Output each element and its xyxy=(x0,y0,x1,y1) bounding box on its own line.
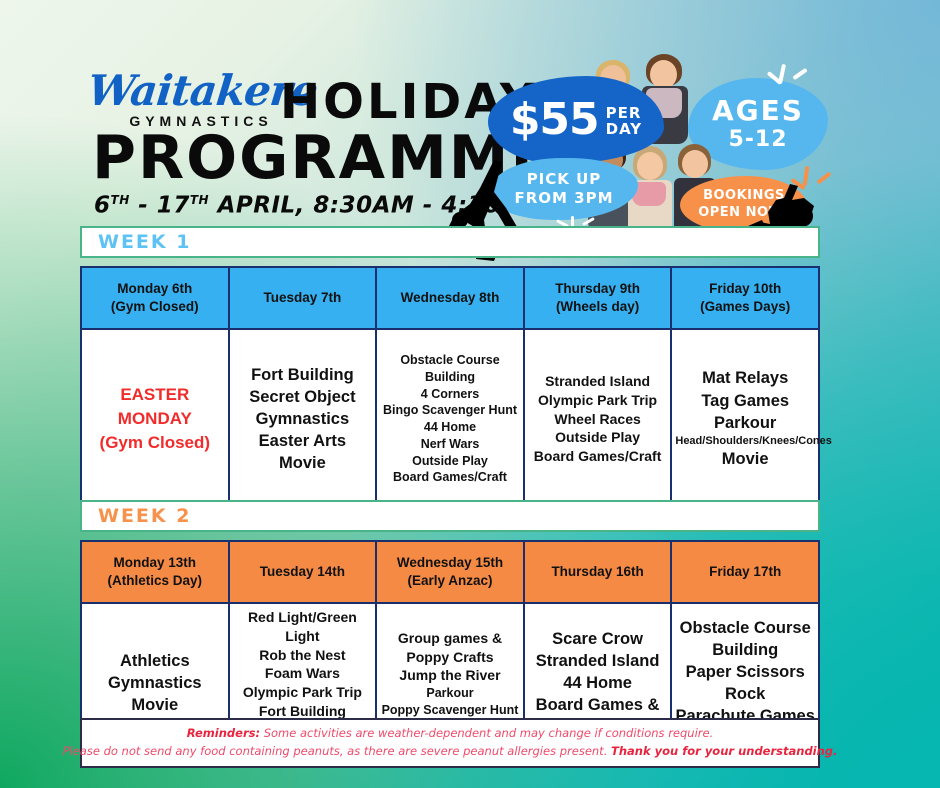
activity-item: EASTER xyxy=(85,383,225,407)
week1-cell-1: Fort BuildingSecret ObjectGymnasticsEast… xyxy=(229,329,377,509)
activity-item: Outside Play xyxy=(528,428,668,447)
price-day-label: DAY xyxy=(606,120,643,138)
activity-item: Board Games & xyxy=(528,694,668,716)
activity-item: 4 Corners xyxy=(380,386,520,403)
activity-item: Mat Relays xyxy=(675,367,815,389)
price-per-label: PER xyxy=(606,104,642,122)
week2-note-0: (Athletics Day) xyxy=(108,573,203,588)
waitakere-gymnastics-logo: Waitakere GYMNASTICS xyxy=(88,70,288,129)
activity-item: Fort Building xyxy=(233,364,373,386)
week1-activity-row: EASTERMONDAY(Gym Closed) Fort BuildingSe… xyxy=(81,329,819,509)
sparkle-white-icon xyxy=(760,58,810,92)
week2-col-header-2: Wednesday 15th (Early Anzac) xyxy=(376,541,524,603)
week1-cell-4: Mat RelaysTag GamesParkourHead/Shoulders… xyxy=(671,329,819,509)
dates-day-from: 6 xyxy=(94,193,111,219)
price-badge: $55 PER DAY xyxy=(488,76,664,164)
ages-range: 5-12 xyxy=(728,129,787,151)
reminders-label: Reminders: xyxy=(187,726,260,740)
week1-note-3: (Wheels day) xyxy=(556,299,639,314)
week1-col-header-2: Wednesday 8th xyxy=(376,267,524,329)
dates-sup-2: TH xyxy=(190,193,209,207)
holiday-programme-poster: Waitakere GYMNASTICS HOLIDAY PROGRAMME 6… xyxy=(0,0,940,788)
week1-col-header-0: Monday 6th (Gym Closed) xyxy=(81,267,229,329)
reminder-line-2: Please do not send any food containing p… xyxy=(63,743,838,761)
activity-item: Building xyxy=(380,369,520,386)
activity-item: Parkour xyxy=(675,412,815,434)
activity-item: Olympic Park Trip xyxy=(528,391,668,410)
week2-header-row: Monday 13th (Athletics Day) Tuesday 14th… xyxy=(81,541,819,603)
week1-cell-2: Obstacle CourseBuilding4 CornersBingo Sc… xyxy=(376,329,524,509)
activity-item: Paper Scissors Rock xyxy=(675,661,815,705)
activity-item: 44 Home xyxy=(380,419,520,436)
activity-item: Building xyxy=(675,639,815,661)
activity-item: MONDAY xyxy=(85,407,225,431)
week1-col-header-4: Friday 10th (Games Days) xyxy=(671,267,819,329)
reminder-line-1-text: Some activities are weather-dependent an… xyxy=(260,726,713,740)
reminder-line-1: Reminders: Some activities are weather-d… xyxy=(187,725,714,743)
week1-label: WEEK 1 xyxy=(82,231,191,253)
activity-item: Head/Shoulders/Knees/Cones xyxy=(675,434,815,449)
dates-separator: - 17 xyxy=(130,193,190,219)
week1-note-0: (Gym Closed) xyxy=(111,299,199,314)
week1-cell-0: EASTERMONDAY(Gym Closed) xyxy=(81,329,229,509)
logo-wordmark: Waitakere xyxy=(86,70,290,112)
activity-item: Tag Games xyxy=(675,390,815,412)
week2-col-header-0: Monday 13th (Athletics Day) xyxy=(81,541,229,603)
reminder-thanks: Thank you for your understanding. xyxy=(611,744,837,758)
week2-col-header-4: Friday 17th xyxy=(671,541,819,603)
ages-label: AGES xyxy=(712,97,804,125)
activity-item: 44 Home xyxy=(528,672,668,694)
activity-item: Foam Wars xyxy=(233,664,373,683)
reminder-line-2-text: Please do not send any food containing p… xyxy=(63,744,611,758)
week2-day-4: Friday 17th xyxy=(709,564,781,579)
week1-schedule-table: Monday 6th (Gym Closed) Tuesday 7th Wedn… xyxy=(80,266,820,510)
week1-day-4: Friday 10th xyxy=(709,281,781,296)
price-per-day: PER DAY xyxy=(606,105,643,138)
week1-cell-3: Stranded IslandOlympic Park TripWheel Ra… xyxy=(524,329,672,509)
week2-note-2: (Early Anzac) xyxy=(407,573,492,588)
week2-day-1: Tuesday 14th xyxy=(260,564,345,579)
price-amount: $55 xyxy=(510,98,599,142)
activity-item: Olympic Park Trip xyxy=(233,683,373,702)
activity-item: Obstacle Course xyxy=(380,352,520,369)
poster-header: Waitakere GYMNASTICS HOLIDAY PROGRAMME 6… xyxy=(0,0,940,228)
activity-item: Outside Play xyxy=(380,453,520,470)
week2-col-header-3: Thursday 16th xyxy=(524,541,672,603)
activity-item: Easter Arts xyxy=(233,430,373,452)
reminders-box: Reminders: Some activities are weather-d… xyxy=(80,718,820,768)
activity-item: Red Light/Green Light xyxy=(233,608,373,646)
activity-item: Gymnastics xyxy=(85,672,225,694)
activity-item: Poppy Scavenger Hunt xyxy=(380,702,520,719)
activity-item: Wheel Races xyxy=(528,410,668,429)
dates-sup-1: TH xyxy=(111,193,130,207)
activity-item: Board Games/Craft xyxy=(528,447,668,466)
week2-label: WEEK 2 xyxy=(82,505,191,527)
activity-item: Movie xyxy=(233,452,373,474)
week1-day-1: Tuesday 7th xyxy=(264,290,342,305)
activity-item: Jump the River xyxy=(380,666,520,685)
activity-item: Stranded Island xyxy=(528,372,668,391)
week1-header-row: Monday 6th (Gym Closed) Tuesday 7th Wedn… xyxy=(81,267,819,329)
week1-note-4: (Games Days) xyxy=(700,299,790,314)
activity-item: Group games & xyxy=(380,629,520,648)
week1-day-0: Monday 6th xyxy=(117,281,192,296)
week2-col-header-1: Tuesday 14th xyxy=(229,541,377,603)
activity-item: Poppy Crafts xyxy=(380,648,520,667)
activity-item: Scare Crow xyxy=(528,628,668,650)
activity-item: Gymnastics xyxy=(233,408,373,430)
activity-item: Movie xyxy=(85,694,225,716)
activity-item: Stranded Island xyxy=(528,650,668,672)
week1-day-3: Thursday 9th xyxy=(555,281,640,296)
activity-item: Board Games/Craft xyxy=(380,469,520,486)
week2-day-0: Monday 13th xyxy=(114,555,197,570)
activity-item: Rob the Nest xyxy=(233,646,373,665)
week1-col-header-1: Tuesday 7th xyxy=(229,267,377,329)
activity-item: Nerf Wars xyxy=(380,436,520,453)
pickup-line-1: PICK UP xyxy=(527,170,602,188)
week1-col-header-3: Thursday 9th (Wheels day) xyxy=(524,267,672,329)
week2-day-2: Wednesday 15th xyxy=(397,555,503,570)
activity-item: Athletics xyxy=(85,650,225,672)
activity-item: Obstacle Course xyxy=(675,617,815,639)
week2-banner: WEEK 2 xyxy=(80,500,820,532)
week2-day-3: Thursday 16th xyxy=(551,564,643,579)
week1-day-2: Wednesday 8th xyxy=(401,290,500,305)
activity-item: Parkour xyxy=(380,685,520,702)
week1-banner: WEEK 1 xyxy=(80,226,820,258)
activity-item: Bingo Scavenger Hunt xyxy=(380,402,520,419)
activity-item: Movie xyxy=(675,448,815,470)
activity-item: Secret Object xyxy=(233,386,373,408)
activity-item: (Gym Closed) xyxy=(85,431,225,455)
